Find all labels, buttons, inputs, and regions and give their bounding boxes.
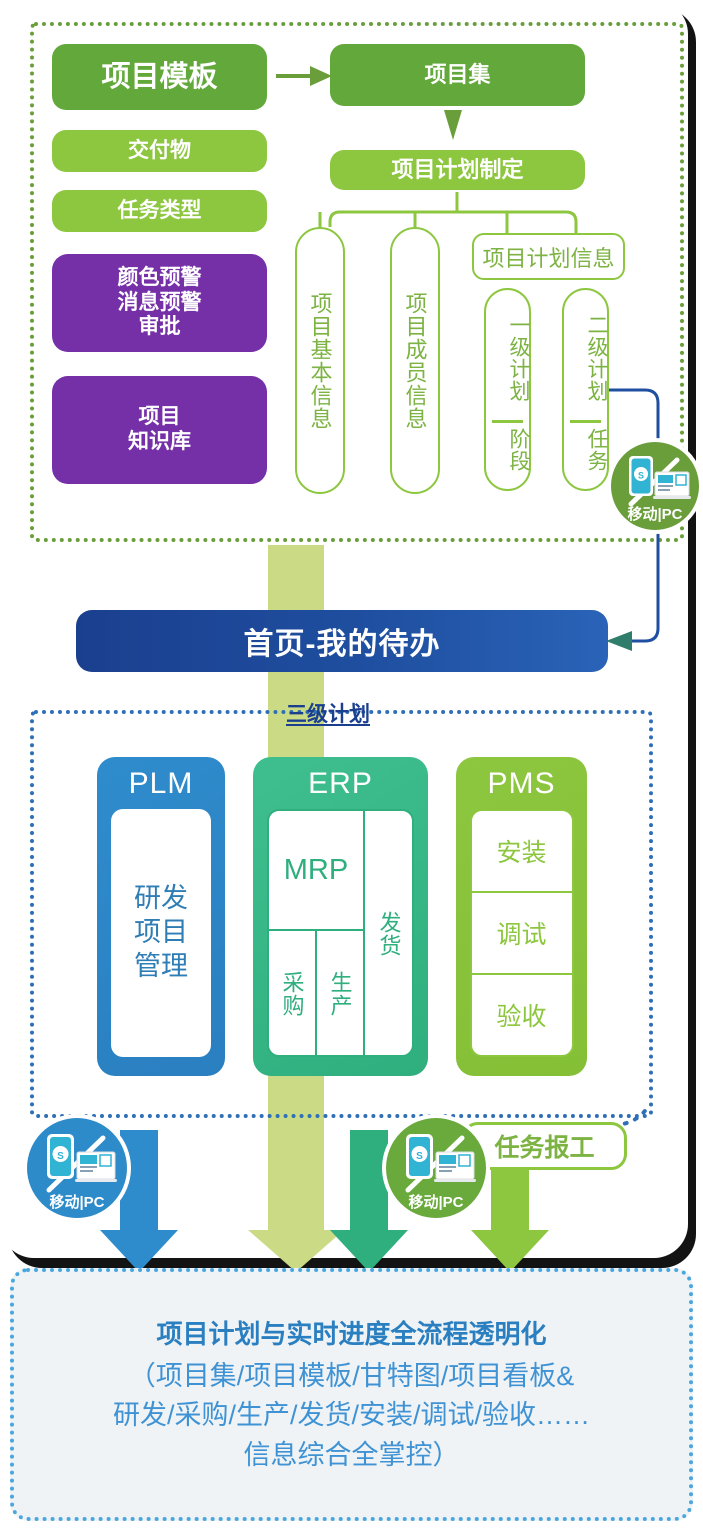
summary-line-1: （项目集/项目模板/甘特图/项目看板& xyxy=(129,1357,575,1396)
summary-line-3: 信息综合全掌控） xyxy=(244,1436,460,1475)
capsule-level2-plan-bottom: 任务 xyxy=(564,421,607,479)
pill-project-template[interactable]: 项目模板 xyxy=(52,44,267,110)
knowledge-line-2: 知识库 xyxy=(128,430,191,455)
badge-mobile-pc-blue[interactable]: S 移动|PC xyxy=(27,1118,127,1218)
summary-line-2: 研发/采购/生产/发货/安装/调试/验收…… xyxy=(113,1396,590,1435)
pms-item-acceptance[interactable]: 验收 xyxy=(472,975,572,1055)
system-pms-label: PMS xyxy=(487,767,555,801)
badge-mobile-pc-top[interactable]: S 移动|PC xyxy=(611,442,699,530)
capsule-project-member-info[interactable]: 项目成员信息 xyxy=(390,227,440,494)
box-plan-info[interactable]: 项目计划信息 xyxy=(472,233,625,280)
pill-task-type[interactable]: 任务类型 xyxy=(52,190,267,232)
plan-label-text: 三级计划 xyxy=(286,703,370,726)
report-work-label: 任务报工 xyxy=(494,1128,594,1164)
system-erp[interactable]: ERP MRP 采购 生产 发货 xyxy=(253,757,428,1076)
summary-box: 项目计划与实时进度全流程透明化 （项目集/项目模板/甘特图/项目看板& 研发/采… xyxy=(10,1268,693,1521)
pill-project-template-label: 项目模板 xyxy=(101,60,217,94)
badge-top-label: 移动|PC xyxy=(611,503,699,524)
svg-text:S: S xyxy=(57,1151,64,1162)
pill-deliverable-label: 交付物 xyxy=(128,139,191,164)
erp-mrp-label: MRP xyxy=(284,854,348,887)
capsule-level1-plan[interactable]: 一级计划 阶段 xyxy=(484,288,531,491)
plm-line-1: 研发 xyxy=(134,882,188,916)
erp-shipping[interactable]: 发货 xyxy=(365,811,413,1056)
svg-text:S: S xyxy=(638,471,644,481)
pms-inner-panel: 安装 调试 验收 xyxy=(470,809,574,1057)
system-pms[interactable]: PMS 安装 调试 验收 xyxy=(456,757,587,1076)
pms-acceptance-label: 验收 xyxy=(496,997,546,1033)
system-erp-label: ERP xyxy=(308,767,373,801)
capsule-project-basic-info[interactable]: 项目基本信息 xyxy=(295,227,345,494)
system-plm-label: PLM xyxy=(129,767,194,801)
pms-item-commission[interactable]: 调试 xyxy=(472,893,572,975)
erp-mrp[interactable]: MRP xyxy=(269,811,365,931)
capsule-level1-plan-top: 一级计划 xyxy=(486,300,529,415)
erp-purchase-label: 采购 xyxy=(280,971,303,1017)
plm-line-2: 项目 xyxy=(134,916,188,950)
svg-text:S: S xyxy=(416,1151,423,1162)
capsule-project-basic-info-label: 项目基本信息 xyxy=(308,292,331,430)
badge-green-label: 移动|PC xyxy=(386,1191,486,1212)
pill-knowledge-base[interactable]: 项目 知识库 xyxy=(52,376,267,484)
summary-title: 项目计划与实时进度全流程透明化 xyxy=(156,1314,546,1351)
alerts-line-3: 审批 xyxy=(139,315,181,340)
pill-plan-making[interactable]: 项目计划制定 xyxy=(330,150,585,190)
capsule-level1-plan-bottom: 阶段 xyxy=(486,421,529,479)
erp-production[interactable]: 生产 xyxy=(317,931,365,1056)
pms-commission-label: 调试 xyxy=(496,915,546,951)
pms-item-install[interactable]: 安装 xyxy=(472,811,572,893)
pill-task-type-label: 任务类型 xyxy=(118,199,202,224)
alerts-line-1: 颜色预警 xyxy=(118,266,202,291)
capsule-level2-plan[interactable]: 二级计划 任务 xyxy=(562,288,609,491)
capsule-level2-plan-top: 二级计划 xyxy=(564,300,607,415)
knowledge-line-1: 项目 xyxy=(139,405,181,430)
pill-program-label: 项目集 xyxy=(424,62,490,88)
pms-install-label: 安装 xyxy=(496,833,546,869)
erp-inner-panel: MRP 采购 生产 发货 xyxy=(267,809,414,1057)
alerts-line-2: 消息预警 xyxy=(118,291,202,316)
three-level-plan-label: 三级计划 xyxy=(286,698,370,728)
capsule-project-member-info-label: 项目成员信息 xyxy=(403,292,426,430)
banner-title: 首页-我的待办 xyxy=(244,619,441,663)
erp-shipping-label: 发货 xyxy=(377,911,400,957)
report-work-box[interactable]: 任务报工 xyxy=(462,1122,627,1170)
plm-line-3: 管理 xyxy=(134,950,188,984)
erp-purchase[interactable]: 采购 xyxy=(269,931,317,1056)
pill-plan-making-label: 项目计划制定 xyxy=(391,157,523,183)
badge-mobile-pc-green[interactable]: S 移动|PC xyxy=(386,1118,486,1218)
pill-deliverable[interactable]: 交付物 xyxy=(52,130,267,172)
erp-production-label: 生产 xyxy=(328,971,351,1017)
pill-program[interactable]: 项目集 xyxy=(330,44,585,106)
pill-alerts[interactable]: 颜色预警 消息预警 审批 xyxy=(52,254,267,352)
badge-blue-label: 移动|PC xyxy=(27,1191,127,1212)
system-plm[interactable]: PLM 研发 项目 管理 xyxy=(97,757,225,1076)
plm-inner-panel: 研发 项目 管理 xyxy=(111,809,211,1057)
banner-home-todo[interactable]: 首页-我的待办 xyxy=(76,610,608,672)
diagram-canvas: 项目模板 交付物 任务类型 颜色预警 消息预警 审批 项目 知识库 项目集 项目… xyxy=(0,0,703,1533)
box-plan-info-label: 项目计划信息 xyxy=(482,241,614,273)
